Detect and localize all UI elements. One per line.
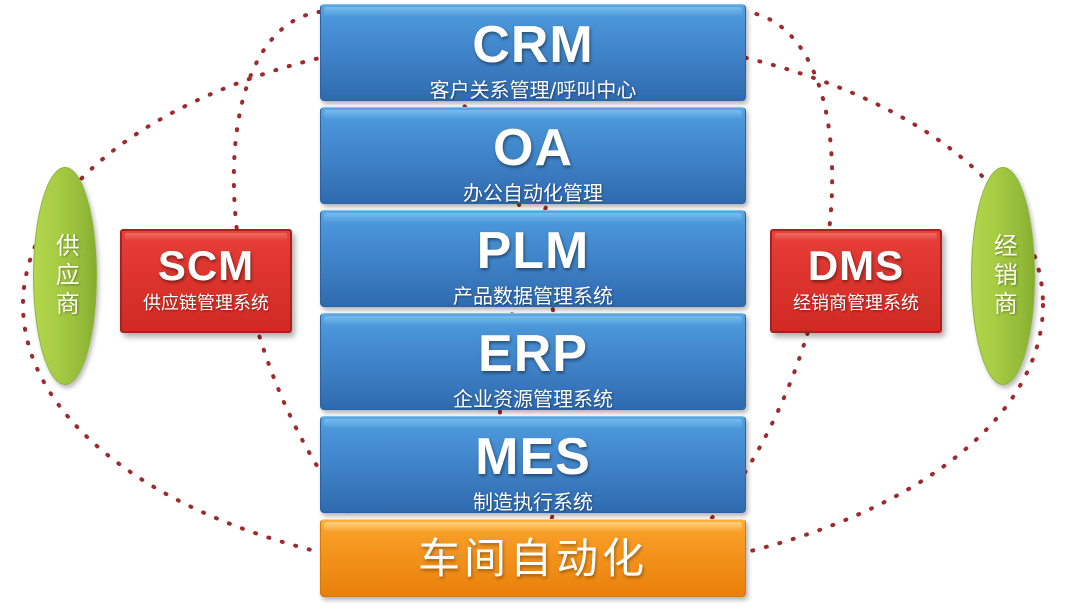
dms-subtitle: 经销商管理系统 xyxy=(772,287,940,313)
crm-box[interactable]: CRM 客户关系管理/呼叫中心 xyxy=(320,4,746,101)
scm-acronym: SCM xyxy=(122,231,290,287)
dms-acronym: DMS xyxy=(772,231,940,287)
mes-acronym: MES xyxy=(321,417,745,483)
scm-box[interactable]: SCM 供应链管理系统 xyxy=(120,229,292,333)
erp-subtitle: 企业资源管理系统 xyxy=(321,380,745,409)
oa-box[interactable]: OA 办公自动化管理 xyxy=(320,107,746,204)
scm-subtitle: 供应链管理系统 xyxy=(122,287,290,313)
oa-subtitle: 办公自动化管理 xyxy=(321,174,745,203)
dealer-label: 经销商 xyxy=(987,233,1019,320)
plm-box[interactable]: PLM 产品数据管理系统 xyxy=(320,210,746,307)
diagram-canvas: 供应商 SCM 供应链管理系统 CRM 客户关系管理/呼叫中心 OA 办公自动化… xyxy=(0,0,1066,609)
dms-box[interactable]: DMS 经销商管理系统 xyxy=(770,229,942,333)
mes-subtitle: 制造执行系统 xyxy=(321,483,745,512)
workshop-automation-box[interactable]: 车间自动化 xyxy=(320,519,746,597)
plm-acronym: PLM xyxy=(321,211,745,277)
crm-acronym: CRM xyxy=(321,5,745,71)
mes-box[interactable]: MES 制造执行系统 xyxy=(320,416,746,513)
system-stack: CRM 客户关系管理/呼叫中心 OA 办公自动化管理 PLM 产品数据管理系统 … xyxy=(320,4,746,603)
erp-acronym: ERP xyxy=(321,314,745,380)
plm-subtitle: 产品数据管理系统 xyxy=(321,277,745,306)
dealer-ellipse[interactable]: 经销商 xyxy=(971,167,1035,385)
crm-subtitle: 客户关系管理/呼叫中心 xyxy=(321,71,745,100)
workshop-automation-label: 车间自动化 xyxy=(321,520,745,580)
supplier-ellipse[interactable]: 供应商 xyxy=(33,167,97,385)
oa-acronym: OA xyxy=(321,108,745,174)
erp-box[interactable]: ERP 企业资源管理系统 xyxy=(320,313,746,410)
supplier-label: 供应商 xyxy=(49,233,81,320)
